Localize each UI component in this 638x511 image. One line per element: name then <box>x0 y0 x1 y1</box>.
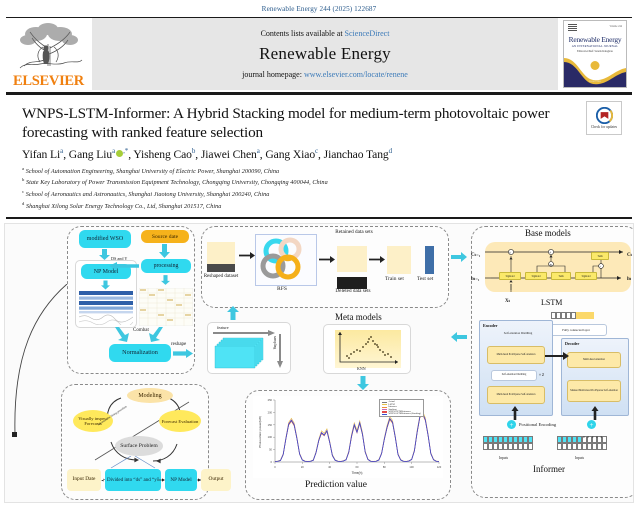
arrow-diag-left-down-icon <box>147 327 165 342</box>
encoder-distilling-box: Self-attention Distilling <box>491 370 537 381</box>
informer-label: Informer <box>533 464 565 474</box>
cover-globe-icon <box>591 61 600 70</box>
cover-title: Renewable Energy <box>564 35 626 44</box>
svg-text:60: 60 <box>356 465 359 469</box>
decoder-masked-multihead: Masked Multi-head ProbSparse Self-attent… <box>567 380 621 402</box>
arrow-right-icon <box>173 349 193 358</box>
lstm-label: LSTM <box>541 298 562 307</box>
lstm-gate-tanh: Tanh <box>551 272 571 280</box>
label-h-prev: hₜ₋₁ <box>471 276 479 282</box>
svg-text:120: 120 <box>437 465 442 469</box>
prediction-chart: 050100 150200250 02040 6080100 120 Time(… <box>253 396 443 478</box>
svg-text:40: 40 <box>328 465 331 469</box>
lstm-gate-sigmoid-1: Sigmoid <box>499 272 521 280</box>
paper-page: Renewable Energy 244 (2025) 122687 <box>0 0 638 511</box>
author-1: Gang Liua,*, <box>69 148 134 161</box>
label-combat: Combat <box>133 328 149 333</box>
cover-barcode-icon <box>568 24 577 32</box>
lstm-gate-tanh-out: Tanh <box>591 252 609 260</box>
label-retained-data-sets: Retained data sets <box>335 230 373 236</box>
decoder-inputs-label: Inputs <box>575 456 584 460</box>
svg-text:+: + <box>549 251 551 255</box>
lstm-cell-wires: × + × × <box>475 240 634 296</box>
prediction-value-caption: Prediction value <box>305 480 367 490</box>
arrow-right-icon <box>369 256 385 263</box>
positional-encoding-label: Positional Encoding <box>519 422 556 427</box>
chart-xlabel: Time(h) <box>352 471 363 475</box>
encoder-title: Encoder <box>483 323 497 328</box>
decoder-block <box>561 338 629 416</box>
author-0: Yifan Lia, <box>22 148 69 161</box>
author-2: Yisheng Caob, <box>133 148 201 161</box>
rfs-rings-graphic <box>257 236 315 284</box>
feature-selection-panel <box>201 226 449 308</box>
label-knn: KNN <box>357 366 366 371</box>
retained-data-icon <box>337 246 367 272</box>
lstm-gate-sigmoid-3: Sigmoid <box>575 272 597 280</box>
affiliation-list: a School of Automation Engineering, Shan… <box>22 165 616 212</box>
orcid-icon[interactable] <box>116 150 123 157</box>
chart-ylabel: Photovoltaic power(kW) <box>258 417 262 449</box>
author-5: Jianchao Tangd <box>324 148 392 161</box>
label-rfs: RFS <box>277 286 287 292</box>
elsevier-tree-icon <box>10 22 88 74</box>
homepage-line: journal homepage: www.elsevier.com/locat… <box>242 70 408 79</box>
affiliation-a: a School of Automation Engineering, Shan… <box>22 165 616 177</box>
label-deleted-data-sets: Deleted data sets <box>335 289 371 295</box>
journal-cover-cell: Volume 244 Renewable Energy AN INTERNATI… <box>558 18 632 90</box>
np-connector-lines <box>101 456 161 470</box>
page-title: WNPS-LSTM-Informer: A Hybrid Stacking mo… <box>22 104 616 143</box>
train-set-icon <box>387 246 411 274</box>
base-models-title: Base models <box>525 228 571 238</box>
svg-text:0: 0 <box>271 460 273 464</box>
decoder-title: Decoder <box>565 341 579 346</box>
encoder-multihead-probsparse-1: Multi-head ProbSparse Self-attention <box>487 346 545 364</box>
arrow-left-icon <box>451 332 467 342</box>
elsevier-logo: ELSEVIER <box>6 18 92 90</box>
processed-data-table <box>139 288 193 326</box>
label-c-out: Cₜ <box>627 252 632 258</box>
legend-item: WNPS-LSTM-Informer (Stacking) <box>382 413 421 415</box>
decoder-input-cells-row2 <box>557 443 607 450</box>
label-reshaped-dataset: Reshaped dataset <box>203 274 239 280</box>
crossmark-badge[interactable]: Check for updates <box>586 101 622 135</box>
arrow-diag-right-down-icon <box>113 327 131 342</box>
arrow-up-icon <box>511 406 519 420</box>
label-train-set: Train set <box>385 276 404 282</box>
arrow-down-icon <box>99 249 110 260</box>
knn-scatter-plot <box>335 330 401 368</box>
arrow-right-icon <box>239 252 255 259</box>
svg-text:150: 150 <box>268 423 273 427</box>
encoder-multihead-probsparse-2: Multi-head ProbSparse Self-attention <box>487 386 545 404</box>
svg-text:100: 100 <box>268 436 273 440</box>
encoder-multiplier: × 2 <box>539 373 544 377</box>
arrow-down-icon <box>357 376 369 390</box>
encoder-input-cells <box>483 436 533 443</box>
encoder-input-cells-row2 <box>483 443 533 450</box>
homepage-prefix: journal homepage: <box>242 70 304 79</box>
title-rule <box>6 217 632 219</box>
encoder-to-decoder-arrow <box>545 352 569 360</box>
test-set-icon <box>425 246 434 274</box>
meta-models-title: Meta models <box>335 312 382 322</box>
affiliation-d: d Shanghai Xilong Solar Energy Technolog… <box>22 200 616 212</box>
author-list: Yifan Lia, Gang Liua,*, Yisheng Caob, Ji… <box>22 147 616 161</box>
encoder-self-attention-distilling-top: Self-attention Distilling <box>491 332 545 335</box>
svg-text:50: 50 <box>269 448 272 452</box>
label-reshape: reshape <box>171 342 186 347</box>
affiliation-b: b State Key Laboratory of Power Transmis… <box>22 176 616 188</box>
node-modified-wso: modified WSO <box>79 230 131 248</box>
arrow-down-icon <box>159 244 170 258</box>
label-test-set: Test set <box>417 276 433 282</box>
homepage-url[interactable]: www.elsevier.com/locate/renene <box>304 70 408 79</box>
node-processing: processing <box>141 259 191 273</box>
feature-cube-stack <box>213 336 275 370</box>
author-4: Gang Xiaoc, <box>265 148 323 161</box>
affiliation-c: c School of Aeronautics and Astronautics… <box>22 188 616 200</box>
author-3: Jiawei Chena, <box>201 148 266 161</box>
contents-prefix: Contents lists available at <box>261 29 345 38</box>
fc-cells-strip <box>551 312 594 319</box>
journal-cover-image: Volume 244 Renewable Energy AN INTERNATI… <box>563 20 627 88</box>
np-flow-arrows <box>61 474 237 486</box>
cover-footer: ELSEVIER <box>564 80 626 83</box>
arrow-down-icon <box>161 274 170 286</box>
label-x-input: Xₜ <box>505 298 510 304</box>
lstm-gate-sigmoid-2: Sigmoid <box>525 272 547 280</box>
node-source-date: Source date <box>141 230 189 243</box>
label-h-out: hₜ <box>627 276 631 282</box>
journal-header-band: ELSEVIER Contents lists available at Sci… <box>6 18 632 90</box>
decoder-multihead-attention: Multi-head Attention <box>567 352 621 368</box>
svg-text:250: 250 <box>268 398 273 402</box>
graphical-abstract: modified WSO NP Model Source date proces… <box>4 223 634 503</box>
chart-line-wnps-lstm-informer-stacking- <box>275 414 439 462</box>
contents-line: Contents lists available at ScienceDirec… <box>261 29 390 38</box>
arrow-up-icon <box>227 306 239 320</box>
reshaped-dataset-icon <box>207 242 235 272</box>
svg-text:200: 200 <box>268 411 273 415</box>
cover-volume-note: Volume 244 <box>609 25 622 28</box>
elsevier-wordmark: ELSEVIER <box>13 74 84 91</box>
arrow-up-icon <box>591 406 599 420</box>
decoder-zero-tokens: 0 0 0 0 0 <box>583 435 603 439</box>
svg-text:20: 20 <box>301 465 304 469</box>
crossmark-icon <box>596 107 613 124</box>
node-normalization: Normalization <box>109 344 171 362</box>
arrow-left-icon <box>109 262 139 270</box>
journal-name: Renewable Energy <box>259 44 391 64</box>
journal-title-cell: Contents lists available at ScienceDirec… <box>92 18 558 90</box>
arrow-right-icon <box>319 256 335 263</box>
sampling-axis-arrow <box>277 334 283 368</box>
label-c-prev: Cₜ₋₁ <box>471 252 480 258</box>
arrow-right-icon <box>451 252 467 262</box>
label-ds-and-y: DS and Y <box>111 256 127 261</box>
panel-connector-curve <box>5 284 75 444</box>
arrow-down-icon <box>101 280 110 290</box>
svg-text:×: × <box>599 265 601 269</box>
journal-reference: Renewable Energy 244 (2025) 122687 <box>0 0 638 13</box>
crossmark-label: Check for updates <box>591 125 617 129</box>
sciencedirect-link[interactable]: ScienceDirect <box>345 29 390 38</box>
svg-text:80: 80 <box>383 465 386 469</box>
encoder-inputs-label: Inputs <box>499 456 508 460</box>
fully-connected-layer: Fully connected layer <box>545 324 607 336</box>
svg-text:0: 0 <box>274 465 276 469</box>
svg-text:100: 100 <box>409 465 414 469</box>
np-model-signal-plot <box>79 291 133 325</box>
title-block: WNPS-LSTM-Informer: A Hybrid Stacking mo… <box>0 95 638 211</box>
svg-text:×: × <box>509 251 511 255</box>
chart-legend: Actual LSTM Informer Stacking WNPS-LSTM-… <box>379 399 424 417</box>
